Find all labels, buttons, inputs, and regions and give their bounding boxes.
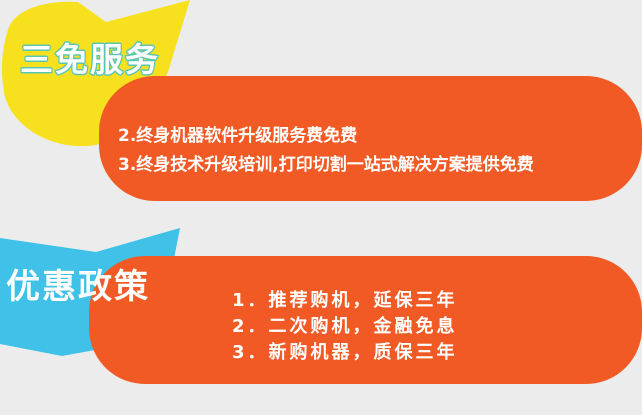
- list-item: 2．二次购机，金融免息: [232, 314, 458, 340]
- list-item: 2.终身机器软件升级服务费免费: [118, 122, 534, 151]
- list-item: 3．新购机器，质保三年: [232, 340, 458, 366]
- list-item: 3.终身技术升级培训,打印切割一站式解决方案提供免费: [118, 151, 534, 180]
- section-lines-preferential-policy: 1．推荐购机，延保三年 2．二次购机，金融免息 3．新购机器，质保三年: [232, 288, 458, 366]
- section-lines-three-free-service: 2.终身机器软件升级服务费免费 3.终身技术升级培训,打印切割一站式解决方案提供…: [118, 122, 534, 180]
- promo-poster: 三免服务 2.终身机器软件升级服务费免费 3.终身技术升级培训,打印切割一站式解…: [0, 0, 642, 415]
- list-item: 1．推荐购机，延保三年: [232, 288, 458, 314]
